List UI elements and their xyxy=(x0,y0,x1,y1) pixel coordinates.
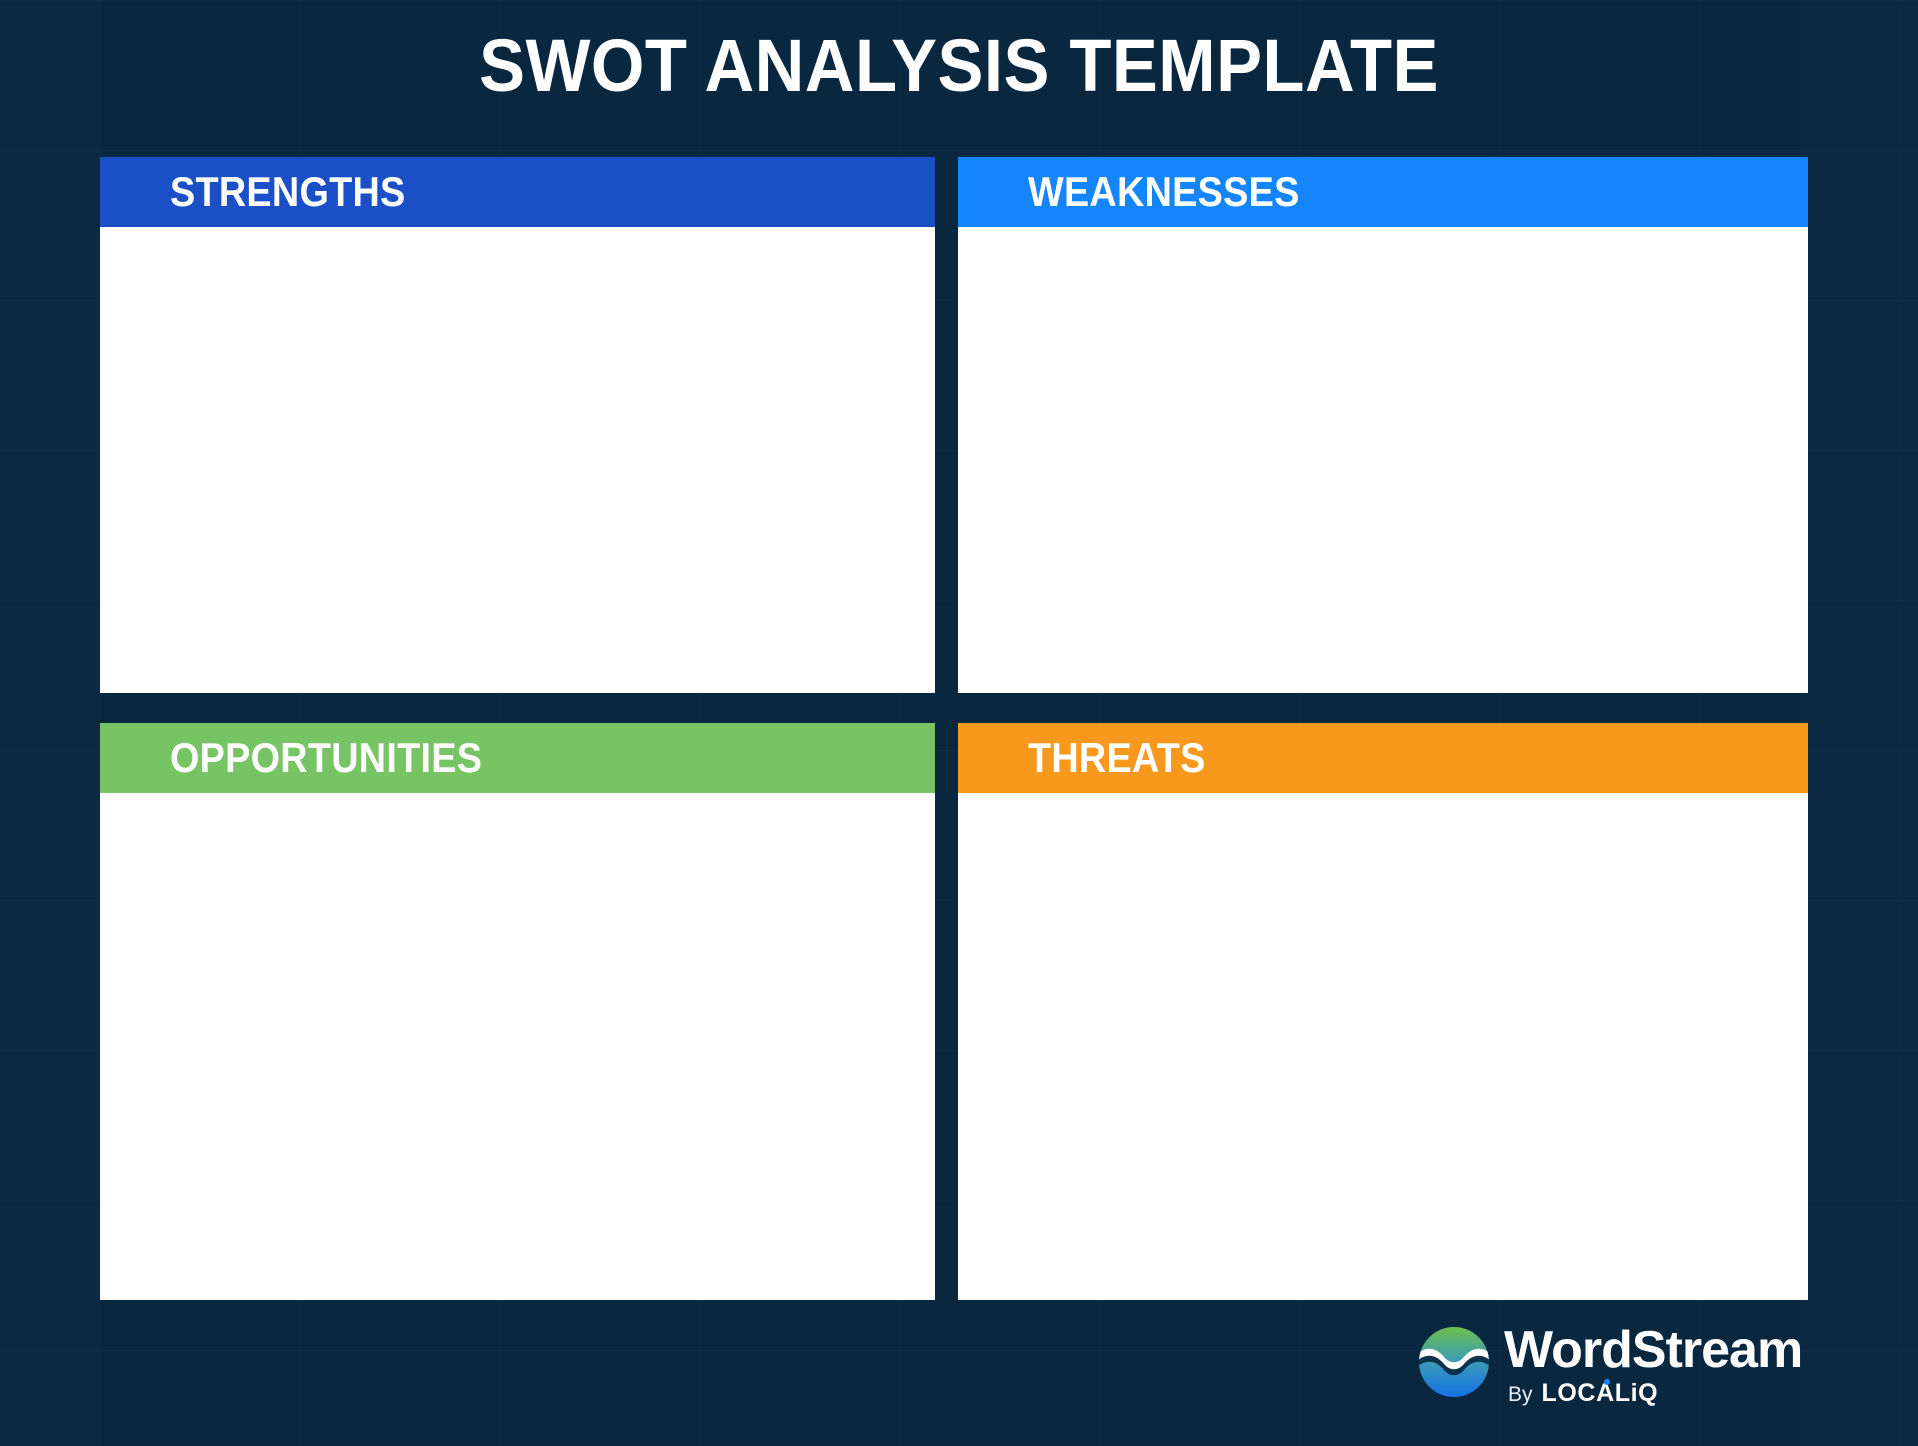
wordstream-logo: WordStream By LOCALiQ xyxy=(1418,1322,1808,1418)
quadrant-body-strengths[interactable] xyxy=(100,227,935,693)
wave-circle-icon xyxy=(1418,1326,1490,1398)
logo-subtitle: By LOCALiQ xyxy=(1508,1380,1808,1407)
logo-sub-brand: LOCALiQ xyxy=(1542,1380,1659,1406)
quadrant-body-threats[interactable] xyxy=(958,793,1808,1300)
quadrant-header-weaknesses: WEAKNESSES xyxy=(958,157,1808,227)
quadrant-body-weaknesses[interactable] xyxy=(958,227,1808,693)
background-band-left xyxy=(0,0,100,1446)
quadrant-header-threats: THREATS xyxy=(958,723,1808,793)
logo-sub-brand-text: LOCALiQ xyxy=(1542,1379,1659,1407)
swot-template-canvas: SWOT ANALYSIS TEMPLATE STRENGTHS WEAKNES… xyxy=(0,0,1918,1446)
page-title: SWOT ANALYSIS TEMPLATE xyxy=(67,26,1851,106)
quadrant-label-weaknesses: WEAKNESSES xyxy=(1028,170,1300,214)
quadrant-header-strengths: STRENGTHS xyxy=(100,157,935,227)
quadrant-weaknesses: WEAKNESSES xyxy=(958,157,1808,693)
logo-text: WordStream By LOCALiQ xyxy=(1504,1322,1808,1407)
localiq-dot-icon xyxy=(1604,1379,1610,1385)
quadrant-strengths: STRENGTHS xyxy=(100,157,935,693)
logo-sub-prefix: By xyxy=(1508,1383,1533,1407)
logo-wordmark: WordStream xyxy=(1504,1322,1808,1378)
quadrant-label-strengths: STRENGTHS xyxy=(170,170,406,214)
quadrant-header-opportunities: OPPORTUNITIES xyxy=(100,723,935,793)
quadrant-label-opportunities: OPPORTUNITIES xyxy=(170,736,482,780)
quadrant-body-opportunities[interactable] xyxy=(100,793,935,1300)
quadrant-label-threats: THREATS xyxy=(1028,736,1206,780)
background-band-right xyxy=(1800,0,1918,1446)
quadrant-threats: THREATS xyxy=(958,723,1808,1300)
quadrant-opportunities: OPPORTUNITIES xyxy=(100,723,935,1300)
